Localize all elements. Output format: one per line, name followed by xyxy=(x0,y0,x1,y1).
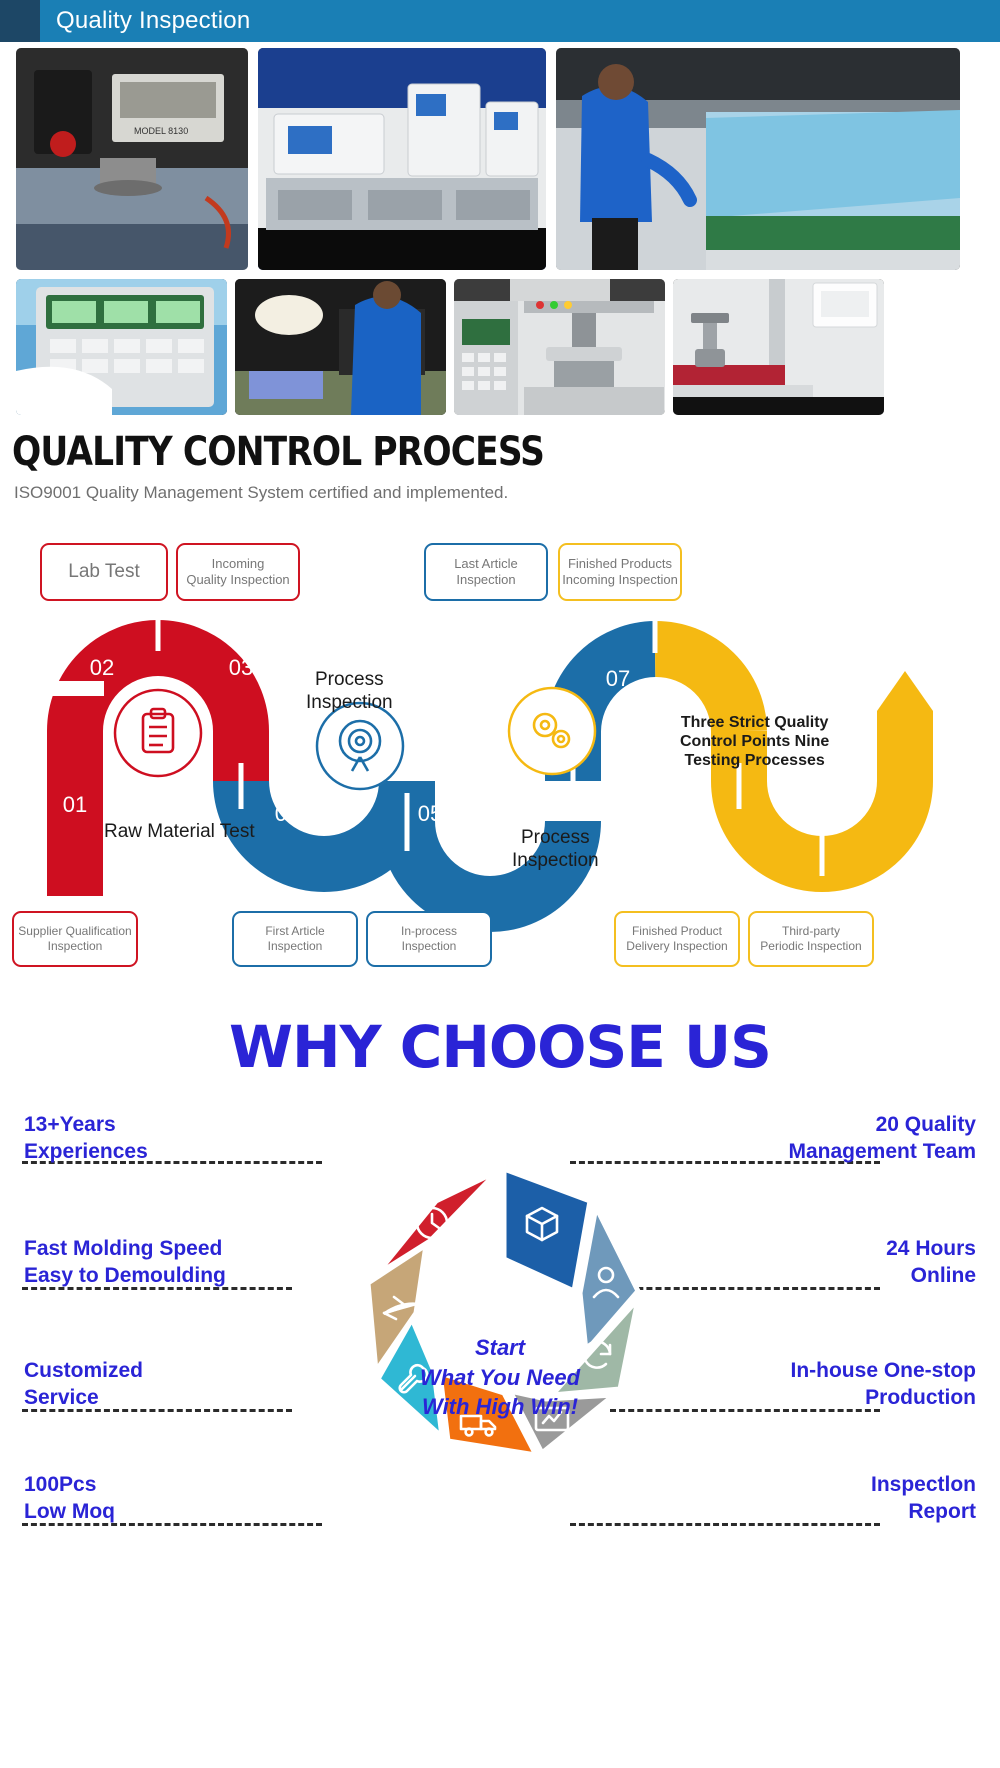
why-right-item-1: 20 Quality Management Team xyxy=(789,1111,977,1166)
qc-process-subheading: ISO9001 Quality Management System certif… xyxy=(14,483,1000,503)
step-number-07: 07 xyxy=(606,666,630,691)
why-right-item-2: 24 Hours Online xyxy=(886,1235,976,1290)
hardness-tester-photo: MODEL 8130 xyxy=(16,48,248,270)
weighing-scale-photo xyxy=(16,279,227,415)
tag-label: Supplier Qualification Inspection xyxy=(18,924,131,953)
tag-label: Incoming Quality Inspection xyxy=(186,556,289,588)
flow-top-tag-2[interactable]: Incoming Quality Inspection xyxy=(176,543,300,601)
why-left-item-4: 100Pcs Low Moq xyxy=(24,1471,115,1526)
flow-top-tag-1[interactable]: Lab Test xyxy=(40,543,168,601)
why-choose-us-section: 13+Years Experiences Fast Molding Speed … xyxy=(0,1091,1000,1551)
hexagon-center-text: Start What You Need With High Win! xyxy=(290,1333,710,1422)
dash-right-4 xyxy=(570,1523,880,1526)
step-number-06: 06 xyxy=(469,666,493,691)
page-title: Quality Inspection xyxy=(40,0,250,42)
header-accent-block xyxy=(0,0,40,42)
why-left-item-1: 13+Years Experiences xyxy=(24,1111,148,1166)
flow-label-raw-material: Raw Material Test xyxy=(104,821,255,844)
qc-process-heading: QUALITY CONTROL PROCESS xyxy=(12,429,862,475)
tag-label: Finished Product Delivery Inspection xyxy=(626,924,727,953)
press-machine-photo xyxy=(454,279,665,415)
tensile-tester-photo xyxy=(673,279,884,415)
why-right-item-4: Inspectlon Report xyxy=(871,1471,976,1526)
gallery-row-2 xyxy=(16,279,984,415)
tag-label: Finished Products Incoming Inspection xyxy=(562,556,678,588)
flow-bottom-tag-4[interactable]: Finished Product Delivery Inspection xyxy=(614,911,740,967)
tag-label: Third-party Periodic Inspection xyxy=(760,924,861,953)
why-right-item-3: In-house One-stop Production xyxy=(791,1357,977,1412)
page-header: Quality Inspection xyxy=(0,0,1000,42)
operator-inspection-photo xyxy=(235,279,446,415)
step-number-08: 08 xyxy=(657,801,681,826)
gallery-row-1: MODEL 8130 xyxy=(16,48,984,270)
step-number-04: 04 xyxy=(275,801,299,826)
flow-top-tag-3[interactable]: Last Article Inspection xyxy=(424,543,548,601)
why-left-item-2: Fast Molding Speed Easy to Demoulding xyxy=(24,1235,226,1290)
tag-label: Lab Test xyxy=(68,560,139,583)
flow-bottom-tag-5[interactable]: Third-party Periodic Inspection xyxy=(748,911,874,967)
step-number-02: 02 xyxy=(90,655,114,680)
fabric-inspection-photo xyxy=(556,48,960,270)
flow-bottom-tag-2[interactable]: First Article Inspection xyxy=(232,911,358,967)
hexagon-wheel: Start What You Need With High Win! xyxy=(290,1141,710,1486)
flow-label-process-bottom: Process Inspection xyxy=(512,827,599,873)
photo-gallery: MODEL 8130 xyxy=(0,42,1000,415)
lab-equipment-photo xyxy=(258,48,546,270)
tag-label: Last Article Inspection xyxy=(454,556,518,588)
why-left-item-3: Customized Service xyxy=(24,1357,143,1412)
svg-text:MODEL 8130: MODEL 8130 xyxy=(134,126,188,136)
hex-seg-clock xyxy=(376,1171,498,1275)
flow-bottom-tag-1[interactable]: Supplier Qualification Inspection xyxy=(12,911,138,967)
tag-label: First Article Inspection xyxy=(265,924,324,953)
hex-seg-box xyxy=(504,1169,590,1291)
step-number-01: 01 xyxy=(63,792,87,817)
quality-control-flowchart: 01 02 03 04 05 06 07 08 09 Lab Test Inco… xyxy=(0,531,1000,1001)
flow-bottom-tag-3[interactable]: In-process Inspection xyxy=(366,911,492,967)
step-number-09: 09 xyxy=(800,801,824,826)
step-number-05: 05 xyxy=(418,801,442,826)
flow-label-process-top: Process Inspection xyxy=(306,669,393,715)
step-number-03: 03 xyxy=(229,655,253,680)
flow-top-tag-4[interactable]: Finished Products Incoming Inspection xyxy=(558,543,682,601)
why-choose-us-title: WHY CHOOSE US xyxy=(0,1013,1000,1081)
tag-label: In-process Inspection xyxy=(401,924,457,953)
flow-label-three-strict: Three Strict Quality Control Points Nine… xyxy=(680,713,829,771)
